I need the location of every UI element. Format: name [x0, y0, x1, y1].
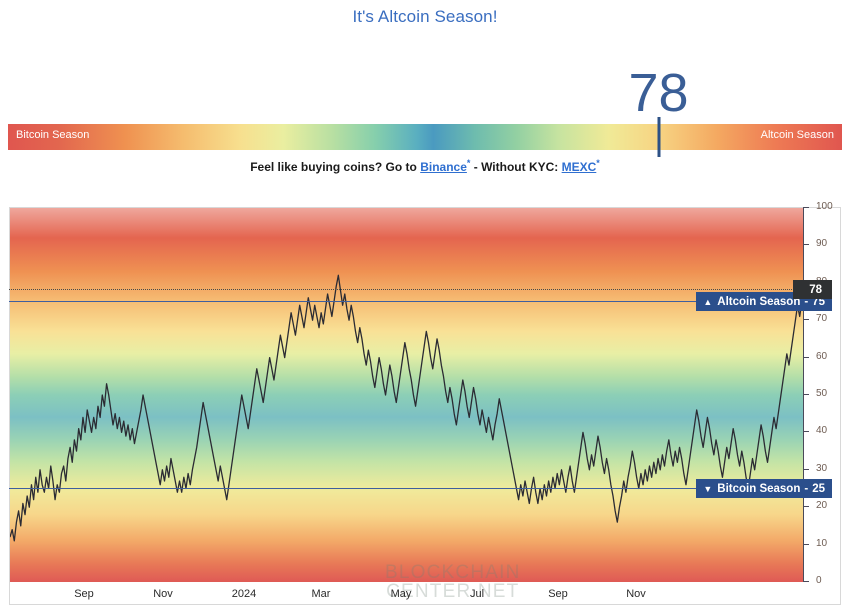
- current-value-dotted-line: [9, 289, 812, 290]
- bitcoin-season-flag: ▼ Bitcoin Season - 25: [696, 479, 832, 498]
- mexc-asterisk: *: [596, 158, 600, 168]
- y-tick-label: 10: [816, 538, 827, 550]
- chart-container[interactable]: BLOCKCHAIN CENTER.NET: [9, 207, 841, 605]
- gauge-label-bitcoin-season: Bitcoin Season: [16, 129, 89, 141]
- promo-middle: - Without KYC:: [470, 160, 561, 174]
- x-tick-label: Nov: [626, 588, 646, 601]
- y-tick: [803, 581, 809, 582]
- promo-line: Feel like buying coins? Go to Binance* -…: [0, 155, 850, 175]
- y-tick-label: 50: [816, 388, 827, 400]
- y-tick: [803, 394, 809, 395]
- current-value-flag: 78: [793, 280, 832, 299]
- y-tick-label: 60: [816, 351, 827, 363]
- x-tick-label: Sep: [74, 588, 94, 601]
- y-tick: [803, 469, 809, 470]
- y-tick: [803, 357, 809, 358]
- promo-prefix: Feel like buying coins? Go to: [250, 160, 420, 174]
- y-tick-label: 100: [816, 201, 833, 213]
- page-title: It's Altcoin Season!: [0, 0, 850, 28]
- gauge-gradient-bar: Bitcoin Season Altcoin Season: [8, 124, 842, 150]
- x-tick-label: Sep: [548, 588, 568, 601]
- triangle-down-icon: ▼: [703, 484, 712, 494]
- gauge-value: 78: [628, 63, 688, 123]
- y-tick: [803, 431, 809, 432]
- bitcoin-season-flag-value: 25: [812, 483, 825, 495]
- y-tick: [803, 244, 809, 245]
- altcoin-season-index-line: [10, 208, 804, 582]
- y-tick: [803, 319, 809, 320]
- altcoin-season-flag-label: Altcoin Season: [717, 296, 800, 308]
- x-tick-label: Jul: [470, 588, 484, 601]
- bitcoin-threshold-line: [9, 488, 812, 489]
- y-tick-label: 70: [816, 313, 827, 325]
- y-tick-label: 40: [816, 425, 827, 437]
- y-tick: [803, 506, 809, 507]
- y-tick-label: 20: [816, 500, 827, 512]
- x-tick-label: Nov: [153, 588, 173, 601]
- y-tick-label: 90: [816, 238, 827, 250]
- y-tick-label: 0: [816, 575, 822, 587]
- x-tick-label: May: [391, 588, 412, 601]
- y-tick: [803, 207, 809, 208]
- y-tick: [803, 544, 809, 545]
- season-gauge: 78 Bitcoin Season Altcoin Season: [0, 31, 850, 146]
- bitcoin-season-flag-label: Bitcoin Season: [717, 483, 800, 495]
- x-tick-label: 2024: [232, 588, 256, 601]
- gauge-label-altcoin-season: Altcoin Season: [761, 129, 834, 141]
- y-tick-label: 30: [816, 463, 827, 475]
- altcoin-threshold-line: [9, 301, 812, 302]
- binance-link[interactable]: Binance: [420, 160, 467, 174]
- mexc-link[interactable]: MEXC: [562, 160, 597, 174]
- gauge-marker-needle: [657, 117, 660, 157]
- current-value-flag-label: 78: [809, 284, 822, 296]
- chart-plot-area[interactable]: [10, 208, 804, 582]
- triangle-up-icon: ▲: [703, 297, 712, 307]
- x-tick-label: Mar: [312, 588, 331, 601]
